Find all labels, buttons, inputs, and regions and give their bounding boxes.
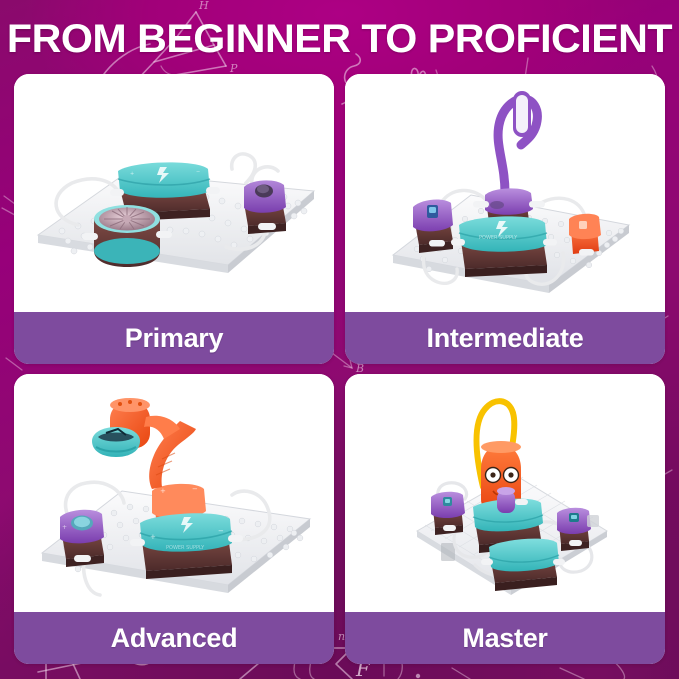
purple-module-left bbox=[431, 492, 465, 535]
card-banner-advanced: Advanced bbox=[14, 612, 334, 664]
level-label: Master bbox=[462, 623, 547, 653]
level-card-master[interactable]: Master bbox=[345, 374, 665, 664]
svg-text:+: + bbox=[62, 524, 67, 531]
power-supply-module: + − POWER SUPPLY bbox=[130, 513, 243, 579]
level-card-primary[interactable]: + − bbox=[14, 74, 334, 364]
gripper bbox=[92, 427, 140, 457]
level-label: Primary bbox=[125, 323, 223, 353]
svg-text:POWER SUPPLY: POWER SUPPLY bbox=[479, 235, 518, 241]
lamp-light bbox=[516, 95, 528, 133]
card-banner-primary: Primary bbox=[14, 312, 334, 364]
orange-module bbox=[569, 214, 601, 256]
svg-text:+: + bbox=[150, 533, 156, 541]
card-banner-intermediate: Intermediate bbox=[345, 312, 665, 364]
purple-button-module: + bbox=[60, 510, 104, 567]
level-label: Advanced bbox=[111, 623, 238, 653]
svg-text:+: + bbox=[160, 487, 166, 495]
poster-root: H α P bbox=[0, 0, 679, 679]
svg-text:−: − bbox=[196, 169, 200, 175]
plate-marker bbox=[441, 543, 455, 561]
level-card-advanced[interactable]: + − bbox=[14, 374, 334, 664]
master-build-photo bbox=[345, 374, 665, 612]
power-supply-module: POWER SUPPLY bbox=[451, 216, 557, 277]
svg-text:−: − bbox=[218, 527, 224, 535]
intermediate-build-photo: POWER SUPPLY bbox=[345, 74, 665, 312]
primary-build-photo: + − bbox=[14, 74, 334, 312]
purple-button-module bbox=[244, 180, 286, 234]
svg-text:−: − bbox=[192, 485, 198, 493]
level-card-grid: + − bbox=[14, 74, 665, 664]
level-label: Intermediate bbox=[427, 323, 584, 353]
level-card-intermediate[interactable]: POWER SUPPLY Intermediate bbox=[345, 74, 665, 364]
purple-switch-module bbox=[413, 200, 453, 253]
page-title: FROM BEGINNER TO PROFICIENT bbox=[0, 17, 679, 61]
card-banner-master: Master bbox=[345, 612, 665, 664]
svg-text:+: + bbox=[130, 171, 134, 177]
svg-text:POWER SUPPLY: POWER SUPPLY bbox=[166, 545, 205, 551]
doodle-bottom-right-1 bbox=[560, 668, 584, 679]
advanced-build-photo: + − bbox=[14, 374, 334, 612]
svg-text:H: H bbox=[198, 0, 209, 12]
